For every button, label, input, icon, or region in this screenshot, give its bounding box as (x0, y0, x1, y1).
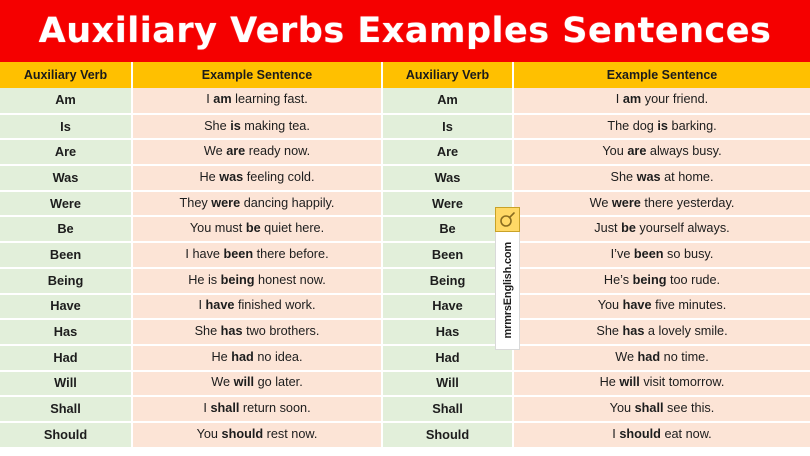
sentence-prefix: He (600, 375, 620, 389)
sentence-auxiliary-verb: being (221, 273, 255, 287)
sentence-auxiliary-verb: was (637, 170, 661, 184)
table-row: BeenI have been there before.BeenI’ve be… (0, 242, 810, 268)
sentence-suffix: there yesterday. (641, 196, 735, 210)
cell-auxiliary-verb-right: Had (382, 345, 513, 371)
sentence-suffix: go later. (254, 375, 303, 389)
cell-example-sentence-right: I should eat now. (513, 422, 810, 448)
sentence-suffix: no idea. (254, 350, 303, 364)
sentence-auxiliary-verb: been (634, 247, 664, 261)
sentence-prefix: You must (190, 221, 246, 235)
table-row: HasShe has two brothers.HasShe has a lov… (0, 319, 810, 345)
sentence-suffix: too rude. (666, 273, 720, 287)
sentence-auxiliary-verb: be (621, 221, 636, 235)
cell-example-sentence-right: He will visit tomorrow. (513, 371, 810, 397)
cell-example-sentence-left: I have been there before. (132, 242, 382, 268)
sentence-auxiliary-verb: be (246, 221, 261, 235)
sentence-auxiliary-verb: is (230, 119, 241, 133)
sentence-auxiliary-verb: being (633, 273, 667, 287)
sentence-suffix: two brothers. (243, 324, 320, 338)
cell-auxiliary-verb-left: Are (0, 139, 132, 165)
sentence-suffix: honest now. (255, 273, 326, 287)
cell-example-sentence-left: I shall return soon. (132, 396, 382, 422)
sentence-prefix: She (195, 324, 221, 338)
cell-example-sentence-left: We will go later. (132, 371, 382, 397)
cell-auxiliary-verb-right: Am (382, 88, 513, 114)
sentence-suffix: so busy. (664, 247, 714, 261)
sentence-auxiliary-verb: has (623, 324, 645, 338)
sentence-suffix: at home. (661, 170, 714, 184)
cell-example-sentence-right: I am your friend. (513, 88, 810, 114)
column-header-auxiliary-verb-1: Auxiliary Verb (0, 62, 132, 88)
cell-example-sentence-right: The dog is barking. (513, 114, 810, 140)
table-row: WillWe will go later.WillHe will visit t… (0, 371, 810, 397)
sentence-prefix: We (204, 144, 226, 158)
sentence-auxiliary-verb: am (213, 92, 231, 106)
sentence-prefix: I (616, 92, 623, 106)
sentence-prefix: He is (188, 273, 220, 287)
sentence-suffix: barking. (668, 119, 717, 133)
cell-auxiliary-verb-left: Should (0, 422, 132, 448)
cell-auxiliary-verb-left: Being (0, 268, 132, 294)
cell-example-sentence-right: You shall see this. (513, 396, 810, 422)
cell-example-sentence-left: I am learning fast. (132, 88, 382, 114)
cell-auxiliary-verb-right: Been (382, 242, 513, 268)
sentence-prefix: She (596, 324, 622, 338)
sentence-auxiliary-verb: will (619, 375, 639, 389)
sentence-auxiliary-verb: shall (635, 401, 664, 415)
sentence-prefix: I (198, 298, 205, 312)
cell-auxiliary-verb-right: Shall (382, 396, 513, 422)
table-header-row: Auxiliary Verb Example Sentence Auxiliar… (0, 62, 810, 88)
poster-root: Auxiliary Verbs Examples Sentences Auxil… (0, 0, 810, 456)
sentence-suffix: rest now. (263, 427, 317, 441)
sentence-suffix: always busy. (646, 144, 721, 158)
sentence-auxiliary-verb: should (222, 427, 264, 441)
sentence-prefix: He’s (604, 273, 633, 287)
cell-auxiliary-verb-right: Will (382, 371, 513, 397)
cell-auxiliary-verb-left: Has (0, 319, 132, 345)
cell-auxiliary-verb-left: Have (0, 294, 132, 320)
cell-auxiliary-verb-right: Is (382, 114, 513, 140)
sentence-prefix: You (610, 401, 635, 415)
sentence-auxiliary-verb: are (627, 144, 646, 158)
table-row: WasHe was feeling cold.WasShe was at hom… (0, 165, 810, 191)
cell-auxiliary-verb-left: Shall (0, 396, 132, 422)
sentence-auxiliary-verb: were (211, 196, 240, 210)
table-row: ShouldYou should rest now.ShouldI should… (0, 422, 810, 448)
cell-auxiliary-verb-right: Are (382, 139, 513, 165)
sentence-prefix: They (180, 196, 212, 210)
sentence-suffix: yourself always. (636, 221, 730, 235)
cell-auxiliary-verb-left: Had (0, 345, 132, 371)
sentence-prefix: Just (594, 221, 621, 235)
cell-auxiliary-verb-left: Been (0, 242, 132, 268)
cell-example-sentence-left: He was feeling cold. (132, 165, 382, 191)
cell-auxiliary-verb-left: Be (0, 216, 132, 242)
table-row: HaveI have finished work.HaveYou have fi… (0, 294, 810, 320)
column-header-example-sentence-1: Example Sentence (132, 62, 382, 88)
sentence-auxiliary-verb: were (612, 196, 641, 210)
sentence-auxiliary-verb: have (623, 298, 652, 312)
sentence-suffix: eat now. (661, 427, 712, 441)
sentence-auxiliary-verb: am (623, 92, 641, 106)
table-row: IsShe is making tea.IsThe dog is barking… (0, 114, 810, 140)
auxiliary-verbs-table: Auxiliary Verb Example Sentence Auxiliar… (0, 62, 810, 449)
sentence-auxiliary-verb: will (234, 375, 254, 389)
cell-example-sentence-left: We are ready now. (132, 139, 382, 165)
table-row: ShallI shall return soon.ShallYou shall … (0, 396, 810, 422)
sentence-prefix: You (598, 298, 623, 312)
table-row: AreWe are ready now.AreYou are always bu… (0, 139, 810, 165)
sentence-auxiliary-verb: had (231, 350, 254, 364)
sentence-suffix: finished work. (234, 298, 315, 312)
sentence-prefix: We (615, 350, 637, 364)
table-body: AmI am learning fast.AmI am your friend.… (0, 88, 810, 448)
sentence-suffix: no time. (660, 350, 709, 364)
table-row: BeYou must be quiet here.BeJust be yours… (0, 216, 810, 242)
cell-auxiliary-verb-right: Has (382, 319, 513, 345)
sentence-auxiliary-verb: been (224, 247, 254, 261)
sentence-prefix: He (200, 170, 220, 184)
sentence-suffix: see this. (664, 401, 715, 415)
cell-auxiliary-verb-right: Were (382, 191, 513, 217)
cell-example-sentence-left: They were dancing happily. (132, 191, 382, 217)
sentence-suffix: quiet here. (261, 221, 324, 235)
cell-example-sentence-right: We were there yesterday. (513, 191, 810, 217)
cell-example-sentence-right: I’ve been so busy. (513, 242, 810, 268)
sentence-prefix: You (602, 144, 627, 158)
cell-example-sentence-left: You must be quiet here. (132, 216, 382, 242)
column-header-example-sentence-2: Example Sentence (513, 62, 810, 88)
cell-example-sentence-left: She is making tea. (132, 114, 382, 140)
sentence-suffix: five minutes. (652, 298, 727, 312)
sentence-suffix: ready now. (245, 144, 310, 158)
sentence-auxiliary-verb: is (657, 119, 668, 133)
sentence-suffix: learning fast. (232, 92, 308, 106)
sentence-prefix: I have (185, 247, 223, 261)
cell-auxiliary-verb-left: Will (0, 371, 132, 397)
sentence-auxiliary-verb: shall (210, 401, 239, 415)
cell-example-sentence-right: You are always busy. (513, 139, 810, 165)
sentence-prefix: You (197, 427, 222, 441)
sentence-suffix: visit tomorrow. (640, 375, 725, 389)
sentence-prefix: She (611, 170, 637, 184)
sentence-auxiliary-verb: have (206, 298, 235, 312)
cell-auxiliary-verb-left: Am (0, 88, 132, 114)
sentence-prefix: She (204, 119, 230, 133)
cell-example-sentence-right: You have five minutes. (513, 294, 810, 320)
table-row: AmI am learning fast.AmI am your friend. (0, 88, 810, 114)
sentence-prefix: We (211, 375, 233, 389)
page-title: Auxiliary Verbs Examples Sentences (39, 14, 772, 49)
cell-example-sentence-left: I have finished work. (132, 294, 382, 320)
sentence-prefix: I’ve (611, 247, 634, 261)
table-row: HadHe had no idea.HadWe had no time. (0, 345, 810, 371)
cell-example-sentence-right: We had no time. (513, 345, 810, 371)
sentence-prefix: We (590, 196, 612, 210)
cell-example-sentence-left: He had no idea. (132, 345, 382, 371)
sentence-suffix: there before. (253, 247, 328, 261)
cell-auxiliary-verb-right: Was (382, 165, 513, 191)
sentence-auxiliary-verb: should (619, 427, 661, 441)
cell-auxiliary-verb-left: Were (0, 191, 132, 217)
cell-auxiliary-verb-left: Is (0, 114, 132, 140)
column-header-auxiliary-verb-2: Auxiliary Verb (382, 62, 513, 88)
sentence-auxiliary-verb: was (219, 170, 243, 184)
cell-auxiliary-verb-left: Was (0, 165, 132, 191)
sentence-prefix: He (212, 350, 232, 364)
cell-auxiliary-verb-right: Be (382, 216, 513, 242)
title-banner: Auxiliary Verbs Examples Sentences (0, 0, 810, 62)
sentence-auxiliary-verb: had (638, 350, 661, 364)
table-row: WereThey were dancing happily.WereWe wer… (0, 191, 810, 217)
cell-auxiliary-verb-right: Have (382, 294, 513, 320)
sentence-suffix: making tea. (241, 119, 310, 133)
sentence-auxiliary-verb: has (221, 324, 243, 338)
cell-example-sentence-right: She was at home. (513, 165, 810, 191)
sentence-suffix: feeling cold. (243, 170, 314, 184)
cell-example-sentence-right: He’s being too rude. (513, 268, 810, 294)
sentence-suffix: return soon. (239, 401, 310, 415)
cell-example-sentence-left: He is being honest now. (132, 268, 382, 294)
table-row: BeingHe is being honest now.BeingHe’s be… (0, 268, 810, 294)
cell-example-sentence-left: You should rest now. (132, 422, 382, 448)
sentence-suffix: dancing happily. (240, 196, 334, 210)
cell-auxiliary-verb-right: Being (382, 268, 513, 294)
cell-example-sentence-right: Just be yourself always. (513, 216, 810, 242)
sentence-suffix: a lovely smile. (644, 324, 727, 338)
cell-example-sentence-right: She has a lovely smile. (513, 319, 810, 345)
cell-auxiliary-verb-right: Should (382, 422, 513, 448)
sentence-auxiliary-verb: are (226, 144, 245, 158)
sentence-suffix: your friend. (641, 92, 708, 106)
sentence-prefix: The dog (607, 119, 657, 133)
cell-example-sentence-left: She has two brothers. (132, 319, 382, 345)
